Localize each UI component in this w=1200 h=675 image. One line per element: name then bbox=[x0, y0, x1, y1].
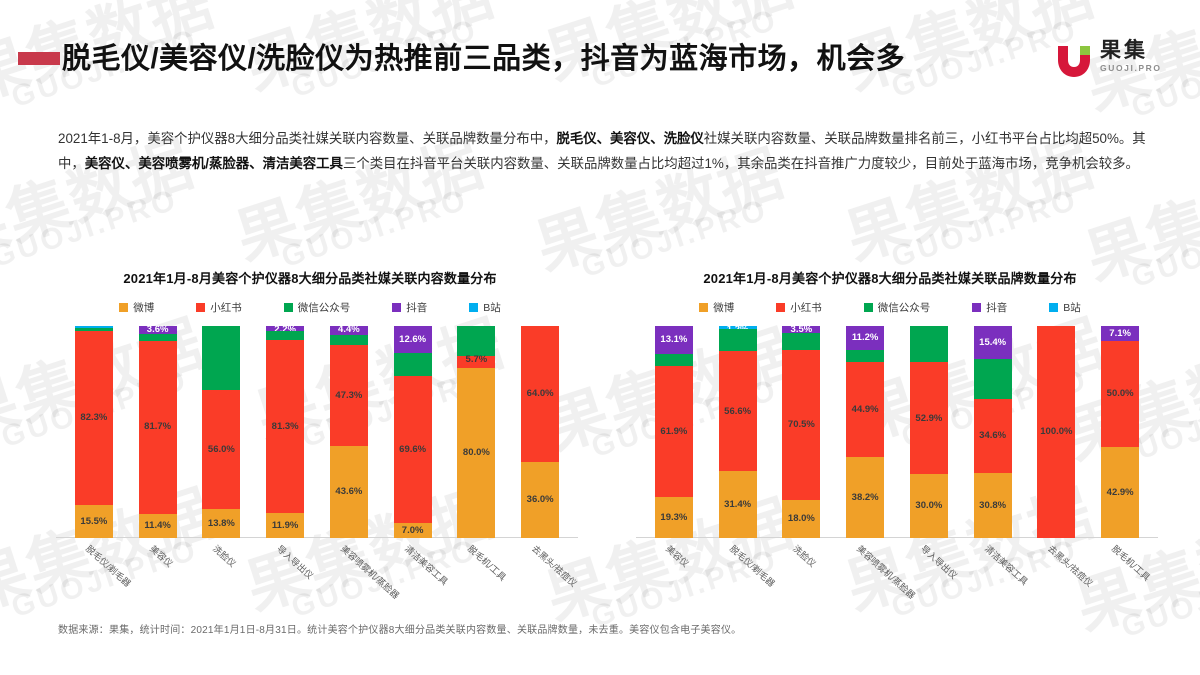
bar-value-label: 12.6% bbox=[399, 335, 426, 345]
legend-label: 抖音 bbox=[986, 300, 1007, 315]
bar-value-label: 30.0% bbox=[915, 501, 942, 511]
bar-column[interactable]: 1.2%56.6%31.4% bbox=[706, 326, 770, 538]
chart-title: 2021年1月-8月美容个护仪器8大细分品类社媒关联内容数量分布 bbox=[30, 268, 590, 290]
bar-column[interactable]: 3.5%70.5%18.0% bbox=[770, 326, 834, 538]
x-tick: 清洁美容工具 bbox=[961, 538, 1025, 620]
legend-label: B站 bbox=[1063, 300, 1081, 315]
bar-value-label: 11.4% bbox=[144, 521, 170, 531]
legend-item-B站[interactable]: B站 bbox=[469, 300, 501, 315]
summary-paragraph: 2021年1-8月，美容个护仪器8大细分品类社媒关联内容数量、关联品牌数量分布中… bbox=[58, 126, 1148, 176]
x-tick-label: 洗脸仪 bbox=[211, 542, 240, 570]
watermark-text: GUOJI.PRO bbox=[277, 183, 472, 275]
x-tick-label: 清洁美容工具 bbox=[402, 542, 451, 588]
stacked-bar[interactable]: 11.2%44.9%38.2% bbox=[846, 326, 884, 538]
bar-segment-微博[interactable]: 13.8% bbox=[202, 509, 240, 538]
legend-swatch-icon bbox=[699, 303, 708, 312]
bar-value-label: 61.9% bbox=[660, 427, 687, 437]
bar-value-label: 15.5% bbox=[80, 517, 107, 527]
x-tick-label: 美容仪 bbox=[147, 542, 176, 570]
bar-value-label: 56.0% bbox=[208, 445, 235, 455]
stacked-bar[interactable]: 15.4%34.6%30.8% bbox=[974, 326, 1012, 538]
legend-label: B站 bbox=[483, 300, 501, 315]
bar-segment-微信公众号[interactable] bbox=[266, 331, 304, 341]
logo-name-en: GUOJI.PRO bbox=[1100, 63, 1162, 73]
bar-segment-微博[interactable]: 38.2% bbox=[846, 457, 884, 538]
stacked-bar[interactable]: 4.4%47.3%43.6% bbox=[330, 326, 368, 538]
legend-label: 抖音 bbox=[406, 300, 427, 315]
guoji-logo-icon bbox=[1054, 40, 1094, 80]
stacked-bar[interactable]: 56.0%13.8% bbox=[202, 326, 240, 538]
legend-swatch-icon bbox=[864, 303, 873, 312]
x-tick: 洗脸仪 bbox=[770, 538, 834, 620]
x-tick: 洗脸仪 bbox=[190, 538, 254, 620]
bar-segment-小红书[interactable]: 69.6% bbox=[394, 376, 432, 524]
bar-value-label: 31.4% bbox=[724, 500, 751, 510]
legend-item-抖音[interactable]: 抖音 bbox=[972, 300, 1007, 315]
bar-segment-微博[interactable]: 80.0% bbox=[457, 368, 495, 538]
stacked-bar[interactable]: 82.3%15.5% bbox=[75, 326, 113, 538]
legend-swatch-icon bbox=[284, 303, 293, 312]
bar-segment-微博[interactable]: 31.4% bbox=[719, 471, 757, 538]
bar-segment-微博[interactable]: 18.0% bbox=[782, 500, 820, 538]
bar-segment-小红书[interactable]: 56.0% bbox=[202, 390, 240, 509]
bar-column[interactable]: 2.2%81.3%11.9% bbox=[253, 326, 317, 538]
bar-value-label: 50.0% bbox=[1107, 389, 1134, 399]
stacked-bar[interactable]: 2.2%81.3%11.9% bbox=[266, 326, 304, 538]
legend-item-小红书[interactable]: 小红书 bbox=[196, 300, 242, 315]
bar-segment-抖音[interactable]: 13.1% bbox=[655, 326, 693, 354]
bar-value-label: 81.7% bbox=[144, 422, 171, 432]
x-tick: 去黑头/祛痘仪 bbox=[508, 538, 572, 620]
bar-value-label: 42.9% bbox=[1107, 488, 1134, 498]
x-tick: 去黑头/祛痘仪 bbox=[1025, 538, 1089, 620]
bar-segment-小红书[interactable]: 47.3% bbox=[330, 345, 368, 445]
bar-value-label: 13.8% bbox=[208, 519, 235, 529]
legend-label: 微信公众号 bbox=[298, 300, 351, 315]
bar-value-label: 5.7% bbox=[466, 355, 488, 365]
bar-segment-抖音[interactable]: 15.4% bbox=[974, 326, 1012, 359]
bar-value-label: 36.0% bbox=[527, 495, 554, 505]
bar-segment-抖音[interactable]: 3.6% bbox=[139, 326, 177, 334]
chart-plot-area: 13.1%61.9%19.3%1.2%56.6%31.4%3.5%70.5%18… bbox=[610, 326, 1170, 538]
bar-segment-抖音[interactable]: 3.5% bbox=[782, 326, 820, 333]
slide-page: 果集数据GUOJI.PRO果集数据GUOJI.PRO果集数据GUOJI.PRO果… bbox=[0, 0, 1200, 675]
bar-segment-微信公众号[interactable] bbox=[139, 334, 177, 341]
bar-column[interactable]: 5.7%80.0% bbox=[445, 326, 509, 538]
bar-segment-小红书[interactable]: 56.6% bbox=[719, 351, 757, 471]
bar-segment-微信公众号[interactable] bbox=[457, 326, 495, 356]
bar-segment-微博[interactable]: 11.4% bbox=[139, 514, 177, 538]
bar-value-label: 13.1% bbox=[660, 335, 687, 345]
legend-item-小红书[interactable]: 小红书 bbox=[776, 300, 822, 315]
x-tick-label: 脱毛机/工具 bbox=[1109, 542, 1153, 583]
x-tick-label: 去黑头/祛痘仪 bbox=[529, 542, 580, 589]
bar-column[interactable]: 52.9%30.0% bbox=[897, 326, 961, 538]
bar-value-label: 64.0% bbox=[527, 389, 554, 399]
stacked-bar[interactable]: 64.0%36.0% bbox=[521, 326, 559, 538]
chart-panel-content-count: 2021年1月-8月美容个护仪器8大细分品类社媒关联内容数量分布 微博小红书微信… bbox=[30, 268, 590, 618]
stacked-bar[interactable]: 5.7%80.0% bbox=[457, 326, 495, 538]
bar-value-label: 43.6% bbox=[335, 487, 362, 497]
x-tick: 美容仪 bbox=[126, 538, 190, 620]
page-title: 脱毛仪/美容仪/洗脸仪为热推前三品类，抖音为蓝海市场，机会多 bbox=[62, 34, 905, 84]
bar-value-label: 19.3% bbox=[660, 513, 687, 523]
watermark-text: GUOJI.PRO bbox=[0, 183, 182, 275]
legend-swatch-icon bbox=[972, 303, 981, 312]
x-tick-label: 洗脸仪 bbox=[791, 542, 820, 570]
bar-column[interactable]: 15.4%34.6%30.8% bbox=[961, 326, 1025, 538]
watermark-text: GUOJI.PRO bbox=[887, 183, 1082, 275]
bar-column[interactable]: 7.1%50.0%42.9% bbox=[1088, 326, 1152, 538]
legend-swatch-icon bbox=[196, 303, 205, 312]
bar-value-label: 4.4% bbox=[338, 325, 360, 335]
x-tick: 脱毛仪/剃毛器 bbox=[706, 538, 770, 620]
bar-segment-微博[interactable]: 19.3% bbox=[655, 497, 693, 538]
bar-value-label: 38.2% bbox=[852, 493, 879, 503]
bar-value-label: 47.3% bbox=[335, 391, 362, 401]
bar-segment-小红书[interactable]: 34.6% bbox=[974, 399, 1012, 472]
bar-value-label: 81.3% bbox=[272, 422, 299, 432]
bar-segment-小红书[interactable]: 81.3% bbox=[266, 340, 304, 512]
bar-value-label: 100.0% bbox=[1040, 427, 1072, 437]
chart-panel-brand-count: 2021年1月-8月美容个护仪器8大细分品类社媒关联品牌数量分布 微博小红书微信… bbox=[610, 268, 1170, 618]
bar-segment-小红书[interactable]: 82.3% bbox=[75, 331, 113, 505]
bar-segment-微信公众号[interactable] bbox=[719, 329, 757, 352]
bar-segment-微博[interactable]: 7.0% bbox=[394, 523, 432, 538]
legend-swatch-icon bbox=[1049, 303, 1058, 312]
bar-segment-抖音[interactable]: 12.6% bbox=[394, 326, 432, 353]
bar-value-label: 52.9% bbox=[915, 414, 942, 424]
bar-segment-微信公众号[interactable] bbox=[202, 326, 240, 390]
bar-segment-抖音[interactable]: 11.2% bbox=[846, 326, 884, 350]
bar-segment-抖音[interactable]: 7.1% bbox=[1101, 326, 1139, 341]
bar-segment-小红书[interactable]: 61.9% bbox=[655, 366, 693, 497]
bar-value-label: 18.0% bbox=[788, 514, 815, 524]
bar-value-label: 7.0% bbox=[402, 526, 424, 536]
summary-emphasis: 美容仪、美容喷雾机/蒸脸器、清洁美容工具 bbox=[85, 156, 343, 171]
bar-value-label: 44.9% bbox=[852, 405, 879, 415]
x-tick: 脱毛仪/剃毛器 bbox=[62, 538, 126, 620]
bar-value-label: 30.8% bbox=[979, 501, 1006, 511]
chart-plot-area: 82.3%15.5%3.6%81.7%11.4%56.0%13.8%2.2%81… bbox=[30, 326, 590, 538]
bar-column[interactable]: 3.6%81.7%11.4% bbox=[126, 326, 190, 538]
bar-segment-小红书[interactable]: 5.7% bbox=[457, 356, 495, 368]
source-note: 数据来源：果集，统计时间：2021年1月1日-8月31日。统计美容个护仪器8大细… bbox=[58, 621, 741, 636]
bar-value-label: 69.6% bbox=[399, 445, 426, 455]
header-accent-bar bbox=[18, 52, 60, 65]
summary-text: 三个类目在抖音平台关联内容数量、关联品牌数量占比均超过1%，其余品类在抖音推广力… bbox=[343, 156, 1139, 171]
chart-title: 2021年1月-8月美容个护仪器8大细分品类社媒关联品牌数量分布 bbox=[610, 268, 1170, 290]
brand-logo: 果集 GUOJI.PRO bbox=[1054, 36, 1186, 84]
x-tick-label: 美容仪 bbox=[663, 542, 692, 570]
bar-column[interactable]: 56.0%13.8% bbox=[190, 326, 254, 538]
bar-segment-微博[interactable]: 11.9% bbox=[266, 513, 304, 538]
legend-label: 微信公众号 bbox=[878, 300, 931, 315]
legend-item-抖音[interactable]: 抖音 bbox=[392, 300, 427, 315]
x-tick-label: 脱毛机/工具 bbox=[466, 542, 510, 583]
legend-label: 小红书 bbox=[210, 300, 242, 315]
legend-item-微信公众号[interactable]: 微信公众号 bbox=[864, 300, 931, 315]
bar-column[interactable]: 64.0%36.0% bbox=[508, 326, 572, 538]
bar-segment-微信公众号[interactable] bbox=[394, 353, 432, 376]
legend-item-微博[interactable]: 微博 bbox=[699, 300, 734, 315]
bar-segment-微博[interactable]: 15.5% bbox=[75, 505, 113, 538]
x-tick: 美容仪 bbox=[642, 538, 706, 620]
bar-value-label: 80.0% bbox=[463, 448, 490, 458]
x-tick-label: 导入导出仪 bbox=[918, 542, 960, 582]
bar-value-label: 11.2% bbox=[852, 333, 878, 343]
stacked-bar[interactable]: 3.6%81.7%11.4% bbox=[139, 326, 177, 538]
chart-legend: 微博小红书微信公众号抖音B站 bbox=[30, 294, 590, 320]
legend-swatch-icon bbox=[119, 303, 128, 312]
bar-value-label: 15.4% bbox=[979, 338, 1006, 348]
legend-label: 微博 bbox=[713, 300, 734, 315]
x-axis-labels: 美容仪脱毛仪/剃毛器洗脸仪美容喷雾机/蒸脸器导入导出仪清洁美容工具去黑头/祛痘仪… bbox=[610, 538, 1170, 620]
x-tick: 美容喷雾机/蒸脸器 bbox=[317, 538, 381, 620]
stacked-bar[interactable]: 52.9%30.0% bbox=[910, 326, 948, 538]
legend-swatch-icon bbox=[776, 303, 785, 312]
bar-column[interactable]: 11.2%44.9%38.2% bbox=[833, 326, 897, 538]
legend-swatch-icon bbox=[469, 303, 478, 312]
legend-item-微博[interactable]: 微博 bbox=[119, 300, 154, 315]
x-tick-label: 清洁美容工具 bbox=[982, 542, 1031, 588]
stacked-bar[interactable]: 12.6%69.6%7.0% bbox=[394, 326, 432, 538]
bar-segment-微博[interactable]: 36.0% bbox=[521, 462, 559, 538]
bar-segment-微信公众号[interactable] bbox=[655, 354, 693, 366]
stacked-bar[interactable]: 7.1%50.0%42.9% bbox=[1101, 326, 1139, 538]
chart-legend: 微博小红书微信公众号抖音B站 bbox=[610, 294, 1170, 320]
summary-emphasis: 脱毛仪、美容仪、洗脸仪 bbox=[556, 131, 703, 146]
bar-segment-抖音[interactable]: 4.4% bbox=[330, 326, 368, 335]
summary-text: 2021年1-8月，美容个护仪器8大细分品类社媒关联内容数量、关联品牌数量分布中… bbox=[58, 131, 556, 146]
bar-segment-微信公众号[interactable] bbox=[330, 335, 368, 345]
x-tick: 导入导出仪 bbox=[253, 538, 317, 620]
bar-column[interactable]: 12.6%69.6%7.0% bbox=[381, 326, 445, 538]
bar-segment-微博[interactable]: 30.8% bbox=[974, 473, 1012, 538]
bar-segment-小红书[interactable]: 100.0% bbox=[1037, 326, 1075, 538]
x-tick: 美容喷雾机/蒸脸器 bbox=[833, 538, 897, 620]
stacked-bar[interactable]: 3.5%70.5%18.0% bbox=[782, 326, 820, 538]
bar-segment-微信公众号[interactable] bbox=[910, 326, 948, 362]
bar-segment-微博[interactable]: 30.0% bbox=[910, 474, 948, 538]
bar-column[interactable]: 100.0% bbox=[1025, 326, 1089, 538]
x-axis-labels: 脱毛仪/剃毛器美容仪洗脸仪导入导出仪美容喷雾机/蒸脸器清洁美容工具脱毛机/工具去… bbox=[30, 538, 590, 620]
bar-segment-微博[interactable]: 43.6% bbox=[330, 446, 368, 538]
bar-segment-微信公众号[interactable] bbox=[782, 333, 820, 350]
bar-segment-微博[interactable]: 42.9% bbox=[1101, 447, 1139, 538]
stacked-bar[interactable]: 1.2%56.6%31.4% bbox=[719, 326, 757, 538]
bar-column[interactable]: 82.3%15.5% bbox=[62, 326, 126, 538]
bar-segment-小红书[interactable]: 64.0% bbox=[521, 326, 559, 462]
bar-value-label: 70.5% bbox=[788, 420, 815, 430]
x-tick: 清洁美容工具 bbox=[381, 538, 445, 620]
bar-value-label: 56.6% bbox=[724, 407, 751, 417]
slide-header: 脱毛仪/美容仪/洗脸仪为热推前三品类，抖音为蓝海市场，机会多 果集 GUOJI.… bbox=[0, 34, 1200, 84]
bar-segment-小红书[interactable]: 70.5% bbox=[782, 350, 820, 499]
bar-column[interactable]: 13.1%61.9%19.3% bbox=[642, 326, 706, 538]
bar-segment-微信公众号[interactable] bbox=[846, 350, 884, 362]
bar-segment-微信公众号[interactable] bbox=[974, 359, 1012, 400]
x-tick-label: 导入导出仪 bbox=[274, 542, 316, 582]
bar-segment-小红书[interactable]: 52.9% bbox=[910, 362, 948, 474]
x-tick: 脱毛机/工具 bbox=[445, 538, 509, 620]
stacked-bar[interactable]: 13.1%61.9%19.3% bbox=[655, 326, 693, 538]
legend-label: 微博 bbox=[133, 300, 154, 315]
legend-label: 小红书 bbox=[790, 300, 822, 315]
legend-swatch-icon bbox=[392, 303, 401, 312]
bar-segment-小红书[interactable]: 44.9% bbox=[846, 362, 884, 457]
legend-item-B站[interactable]: B站 bbox=[1049, 300, 1081, 315]
bar-column[interactable]: 4.4%47.3%43.6% bbox=[317, 326, 381, 538]
x-tick: 导入导出仪 bbox=[897, 538, 961, 620]
bar-value-label: 34.6% bbox=[979, 431, 1006, 441]
bar-value-label: 82.3% bbox=[80, 413, 107, 423]
bar-value-label: 11.9% bbox=[272, 521, 298, 531]
logo-name-cn: 果集 bbox=[1100, 40, 1162, 62]
bar-segment-小红书[interactable]: 50.0% bbox=[1101, 341, 1139, 447]
bar-value-label: 7.1% bbox=[1109, 329, 1131, 339]
stacked-bar[interactable]: 100.0% bbox=[1037, 326, 1075, 538]
x-tick: 脱毛机/工具 bbox=[1088, 538, 1152, 620]
bar-segment-小红书[interactable]: 81.7% bbox=[139, 341, 177, 514]
legend-item-微信公众号[interactable]: 微信公众号 bbox=[284, 300, 351, 315]
